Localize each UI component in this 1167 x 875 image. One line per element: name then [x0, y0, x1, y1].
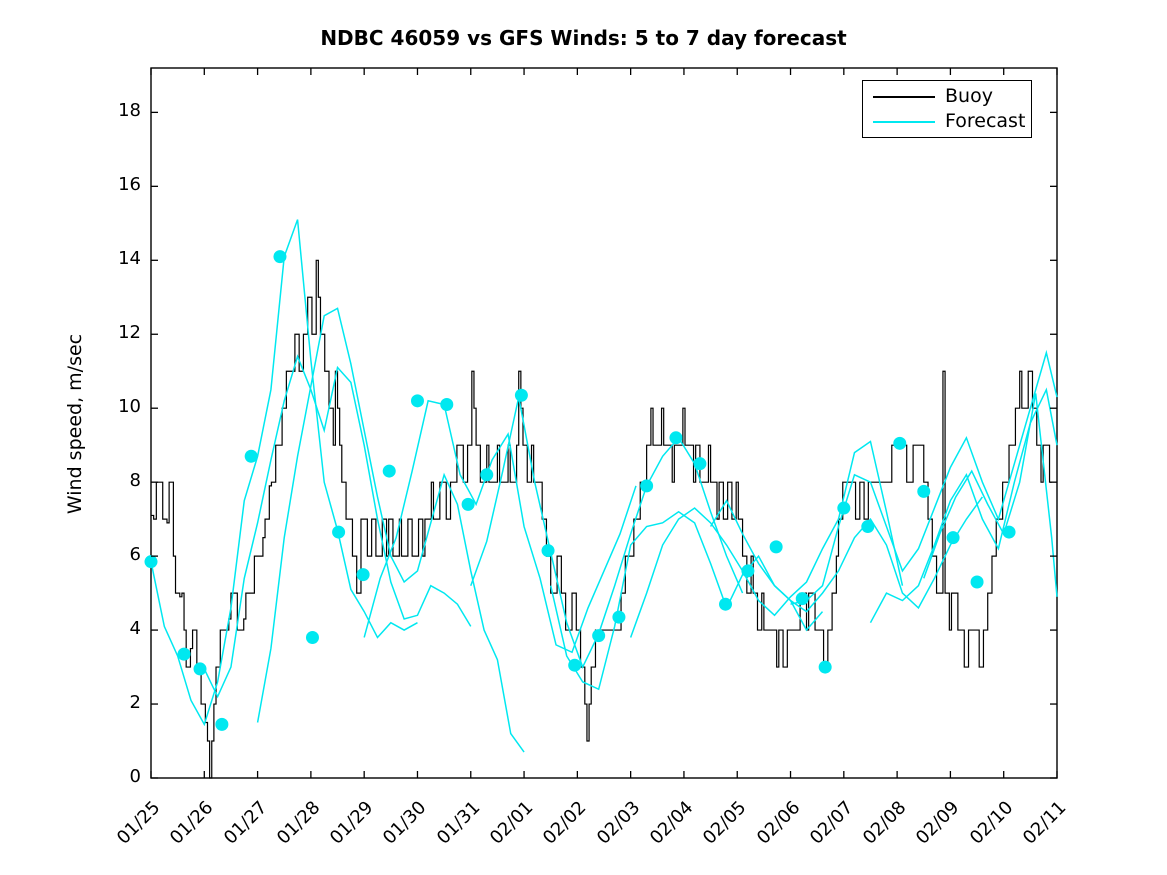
scatter-point — [640, 479, 653, 492]
series-forecast-run-3 — [258, 308, 524, 752]
chart-legend: Buoy Forecast — [862, 80, 1032, 138]
scatter-point — [332, 526, 345, 539]
scatter-point — [861, 520, 874, 533]
scatter-point — [612, 611, 625, 624]
tick-marks — [151, 68, 1057, 778]
series-buoy — [151, 260, 1052, 778]
scatter-point — [971, 576, 984, 589]
y-tick-label: 10 — [101, 396, 141, 417]
scatter-point — [194, 662, 207, 675]
scatter-point — [719, 598, 732, 611]
legend-entry-buoy: Buoy — [863, 84, 1031, 109]
scatter-point — [440, 398, 453, 411]
y-tick-label: 12 — [101, 322, 141, 343]
scatter-point — [1003, 526, 1016, 539]
scatter-point — [462, 498, 475, 511]
legend-swatch-forecast — [873, 121, 935, 123]
chart-figure: NDBC 46059 vs GFS Winds: 5 to 7 day fore… — [0, 0, 1167, 875]
data-series — [151, 220, 1057, 778]
scatter-point — [145, 555, 158, 568]
scatter-point — [693, 457, 706, 470]
scatter-point — [480, 468, 493, 481]
scatter-point — [306, 631, 319, 644]
series-forecast-run-4 — [364, 401, 636, 652]
scatter-point — [770, 540, 783, 553]
y-tick-label: 0 — [101, 766, 141, 787]
y-tick-label: 8 — [101, 470, 141, 491]
scatter-point — [542, 544, 555, 557]
scatter-point — [741, 564, 754, 577]
scatter-point — [837, 502, 850, 515]
axes-frame — [151, 68, 1057, 778]
series-forecast-run-5 — [471, 397, 743, 667]
scatter-point — [917, 485, 930, 498]
legend-label-buoy: Buoy — [945, 84, 993, 109]
y-tick-label: 4 — [101, 618, 141, 639]
series-forecast-run-10 — [870, 390, 1057, 623]
scatter-point — [383, 465, 396, 478]
scatter-point — [893, 437, 906, 450]
series-forecast-run-7 — [631, 441, 903, 637]
scatter-point — [568, 659, 581, 672]
y-tick-label: 18 — [101, 100, 141, 121]
legend-swatch-buoy — [873, 96, 935, 98]
y-tick-label: 6 — [101, 544, 141, 565]
y-tick-label: 2 — [101, 692, 141, 713]
legend-label-forecast: Forecast — [945, 109, 1025, 134]
legend-entry-forecast: Forecast — [863, 109, 1031, 134]
scatter-point — [411, 394, 424, 407]
scatter-point — [178, 648, 191, 661]
scatter-point — [245, 450, 258, 463]
y-tick-label: 16 — [101, 174, 141, 195]
scatter-point — [947, 531, 960, 544]
scatter-point — [669, 431, 682, 444]
scatter-point — [273, 250, 286, 263]
series-forecast-run-8 — [711, 497, 983, 612]
scatter-point — [796, 592, 809, 605]
scatter-point — [215, 718, 228, 731]
scatter-point — [819, 661, 832, 674]
scatter-point — [515, 389, 528, 402]
scatter-point — [357, 568, 370, 581]
y-tick-label: 14 — [101, 248, 141, 269]
scatter-point — [592, 629, 605, 642]
